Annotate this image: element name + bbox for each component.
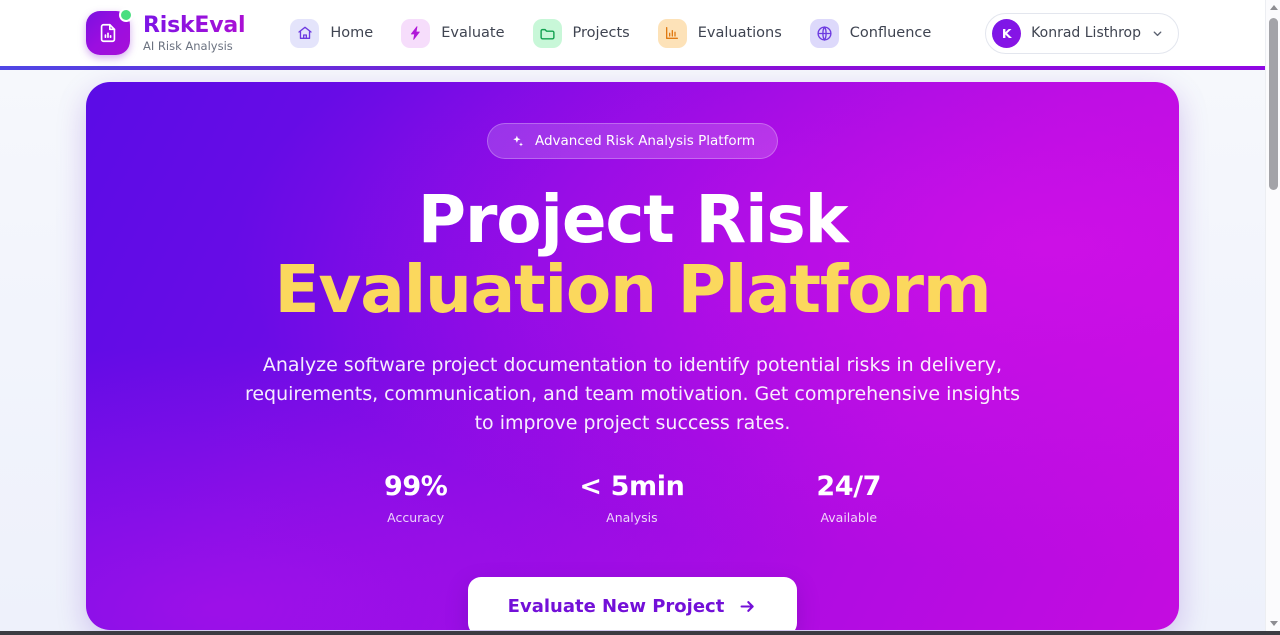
user-menu-button[interactable]: K Konrad Listhrop xyxy=(985,13,1179,54)
nav-item-label: Evaluations xyxy=(698,25,782,41)
arrow-right-icon xyxy=(738,597,757,616)
vertical-scrollbar[interactable] xyxy=(1265,0,1280,631)
stat-value: 24/7 xyxy=(816,471,881,502)
brand-text: RiskEval AI Risk Analysis xyxy=(143,14,245,52)
online-status-dot xyxy=(119,8,133,22)
hero-card: Advanced Risk Analysis Platform Project … xyxy=(86,82,1179,630)
sparkles-icon xyxy=(510,134,525,149)
hero-area: Advanced Risk Analysis Platform Project … xyxy=(0,70,1265,630)
brand-name: RiskEval xyxy=(143,14,245,37)
nav-item-home[interactable]: Home xyxy=(283,13,386,54)
stat-label: Available xyxy=(816,510,881,525)
nav-item-evaluate[interactable]: Evaluate xyxy=(394,13,517,54)
page-title: Project Risk Evaluation Platform xyxy=(275,185,991,325)
triangle-up-icon xyxy=(1270,5,1278,10)
platform-badge-label: Advanced Risk Analysis Platform xyxy=(535,133,755,149)
hero-subtitle: Analyze software project documentation t… xyxy=(233,351,1033,438)
lightning-icon xyxy=(401,19,430,48)
scroll-up-button[interactable] xyxy=(1266,0,1280,15)
nav-item-confluence[interactable]: Confluence xyxy=(803,13,945,54)
hero-title-line1: Project Risk xyxy=(418,181,848,258)
cta-label: Evaluate New Project xyxy=(508,596,725,617)
nav-item-evaluations[interactable]: Evaluations xyxy=(651,13,795,54)
nav-item-label: Evaluate xyxy=(441,25,504,41)
scrollbar-thumb[interactable] xyxy=(1269,18,1278,190)
stat-item: 99% Accuracy xyxy=(384,471,447,525)
nav-item-projects[interactable]: Projects xyxy=(526,13,643,54)
evaluate-new-project-button[interactable]: Evaluate New Project xyxy=(468,577,798,630)
stat-label: Analysis xyxy=(579,510,684,525)
nav-item-label: Home xyxy=(330,25,373,41)
hero-stats: 99% Accuracy < 5min Analysis 24/7 Availa… xyxy=(384,471,881,525)
browser-viewport: RiskEval AI Risk Analysis Home xyxy=(0,0,1280,635)
hero-title-line2: Evaluation Platform xyxy=(275,255,991,325)
chevron-down-icon xyxy=(1151,27,1164,40)
browser-bottom-chrome xyxy=(0,631,1280,635)
stat-item: 24/7 Available xyxy=(816,471,881,525)
folder-icon xyxy=(533,19,562,48)
stat-label: Accuracy xyxy=(384,510,447,525)
stat-value: 99% xyxy=(384,471,447,502)
stat-item: < 5min Analysis xyxy=(579,471,684,525)
nav-item-label: Projects xyxy=(573,25,630,41)
logo-wrapper xyxy=(86,11,130,55)
brand-tagline: AI Risk Analysis xyxy=(143,40,245,52)
stat-value: < 5min xyxy=(579,471,684,502)
bar-chart-icon xyxy=(658,19,687,48)
page-content: RiskEval AI Risk Analysis Home xyxy=(0,0,1265,631)
brand-logo[interactable]: RiskEval AI Risk Analysis xyxy=(86,11,245,55)
platform-badge[interactable]: Advanced Risk Analysis Platform xyxy=(487,123,778,159)
user-name: Konrad Listhrop xyxy=(1031,25,1141,41)
globe-icon xyxy=(810,19,839,48)
triangle-down-icon xyxy=(1270,621,1278,626)
avatar: K xyxy=(992,19,1021,48)
nav-item-label: Confluence xyxy=(850,25,932,41)
cta-wrapper: Evaluate New Project xyxy=(468,577,798,630)
app-header: RiskEval AI Risk Analysis Home xyxy=(0,0,1265,66)
scroll-down-button[interactable] xyxy=(1266,616,1280,631)
home-icon xyxy=(290,19,319,48)
main-navigation: Home Evaluate Pr xyxy=(283,13,944,54)
